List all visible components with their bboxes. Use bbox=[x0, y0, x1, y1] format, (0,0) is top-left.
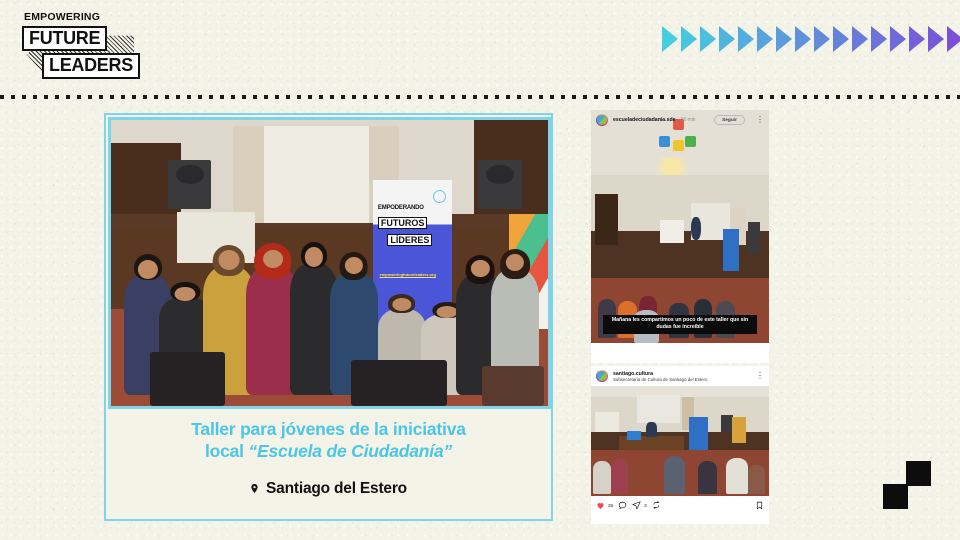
post-header: santiago.cultura Subsecretaría de Cultur… bbox=[591, 366, 769, 386]
dotted-divider bbox=[0, 94, 960, 99]
location-label: Santiago del Estero bbox=[266, 480, 407, 498]
logo-leaders-text: LEADERS bbox=[42, 53, 140, 79]
more-options-icon[interactable]: ⋮ bbox=[756, 373, 764, 379]
arrow-glyph-12 bbox=[871, 26, 887, 52]
story-timestamp: 16 min bbox=[681, 117, 696, 123]
arrow-glyph-6 bbox=[757, 26, 773, 52]
brand-logo: EMPOWERING FUTURE LEADERS bbox=[22, 12, 134, 74]
arrow-glyph-4 bbox=[719, 26, 735, 52]
post-room-scene bbox=[591, 386, 769, 496]
arrow-glyph-8 bbox=[795, 26, 811, 52]
caption-line-1: Taller para jóvenes de la iniciativa bbox=[106, 418, 551, 440]
photo-scene: EMPODERANDO FUTUROS LÍDERES empoweringfu… bbox=[111, 120, 548, 406]
photo-card: EMPODERANDO FUTUROS LÍDERES empoweringfu… bbox=[104, 113, 553, 521]
bookmark-icon[interactable] bbox=[755, 501, 764, 510]
arrow-glyph-11 bbox=[852, 26, 868, 52]
arrow-glyph-10 bbox=[833, 26, 849, 52]
card-caption: Taller para jóvenes de la iniciativa loc… bbox=[106, 418, 551, 498]
group-photo: EMPODERANDO FUTUROS LÍDERES empoweringfu… bbox=[108, 117, 551, 409]
arrow-glyph-1 bbox=[662, 26, 678, 52]
story-avatar[interactable] bbox=[596, 114, 608, 126]
post-media bbox=[591, 386, 769, 496]
caption-line-2-prefix: local bbox=[205, 441, 249, 461]
banner-line3: LÍDERES bbox=[387, 234, 432, 246]
story-follow-button[interactable]: Seguir bbox=[714, 115, 745, 125]
arrow-strip bbox=[662, 26, 960, 52]
post-avatar[interactable] bbox=[596, 370, 608, 382]
post-account-subtitle: Subsecretaría de Cultura de Santiago del… bbox=[613, 377, 707, 382]
comment-icon[interactable] bbox=[618, 501, 627, 510]
banner-url: empoweringfutureleaders.org bbox=[379, 272, 435, 277]
arrow-glyph-14 bbox=[909, 26, 925, 52]
logo-future-text: FUTURE bbox=[22, 26, 107, 52]
instagram-story-card: escueladeciudadania.sde 16 min Seguir ⋮ … bbox=[591, 110, 769, 363]
arrow-glyph-2 bbox=[681, 26, 697, 52]
arrow-glyph-7 bbox=[776, 26, 792, 52]
arrow-glyph-16 bbox=[947, 26, 960, 52]
arrow-glyph-13 bbox=[890, 26, 906, 52]
story-overlay-caption: Mañana les compartimos un poco de este t… bbox=[603, 315, 757, 334]
puzzle-piece-yellow bbox=[673, 140, 684, 151]
arrow-glyph-3 bbox=[700, 26, 716, 52]
instagram-post-card: santiago.cultura Subsecretaría de Cultur… bbox=[591, 366, 769, 524]
logo-row-future: FUTURE bbox=[22, 26, 134, 52]
story-header: escueladeciudadania.sde 16 min Seguir ⋮ bbox=[591, 110, 769, 130]
arrow-glyph-9 bbox=[814, 26, 830, 52]
story-media: escueladeciudadania.sde 16 min Seguir ⋮ … bbox=[591, 110, 769, 343]
two-squares-mark bbox=[883, 461, 931, 509]
banner-line1: EMPODERANDO bbox=[378, 205, 424, 211]
post-action-bar: 25 3 bbox=[591, 496, 769, 514]
map-pin-icon bbox=[250, 484, 259, 493]
repost-icon[interactable] bbox=[652, 501, 661, 510]
arrow-glyph-15 bbox=[928, 26, 944, 52]
like-count: 25 bbox=[608, 503, 613, 508]
logo-row-leaders: LEADERS bbox=[42, 53, 134, 79]
caption-line-2-emphasis: “Escuela de Ciudadanía” bbox=[249, 441, 453, 461]
story-room-scene bbox=[591, 110, 769, 343]
caption-line-2: local “Escuela de Ciudadanía” bbox=[106, 440, 551, 462]
banner-line2: FUTUROS bbox=[378, 217, 428, 229]
story-account-name[interactable]: escueladeciudadania.sde bbox=[613, 117, 676, 123]
puzzle-piece-green bbox=[685, 136, 696, 147]
heart-icon[interactable] bbox=[596, 501, 605, 510]
logo-top-text: EMPOWERING bbox=[24, 12, 134, 23]
share-count: 3 bbox=[644, 503, 647, 508]
more-options-icon[interactable]: ⋮ bbox=[756, 117, 764, 123]
share-icon[interactable] bbox=[632, 501, 641, 510]
banner-ring-icon bbox=[433, 190, 446, 203]
arrow-glyph-5 bbox=[738, 26, 754, 52]
location-row: Santiago del Estero bbox=[106, 480, 551, 498]
puzzle-piece-blue bbox=[659, 136, 670, 147]
